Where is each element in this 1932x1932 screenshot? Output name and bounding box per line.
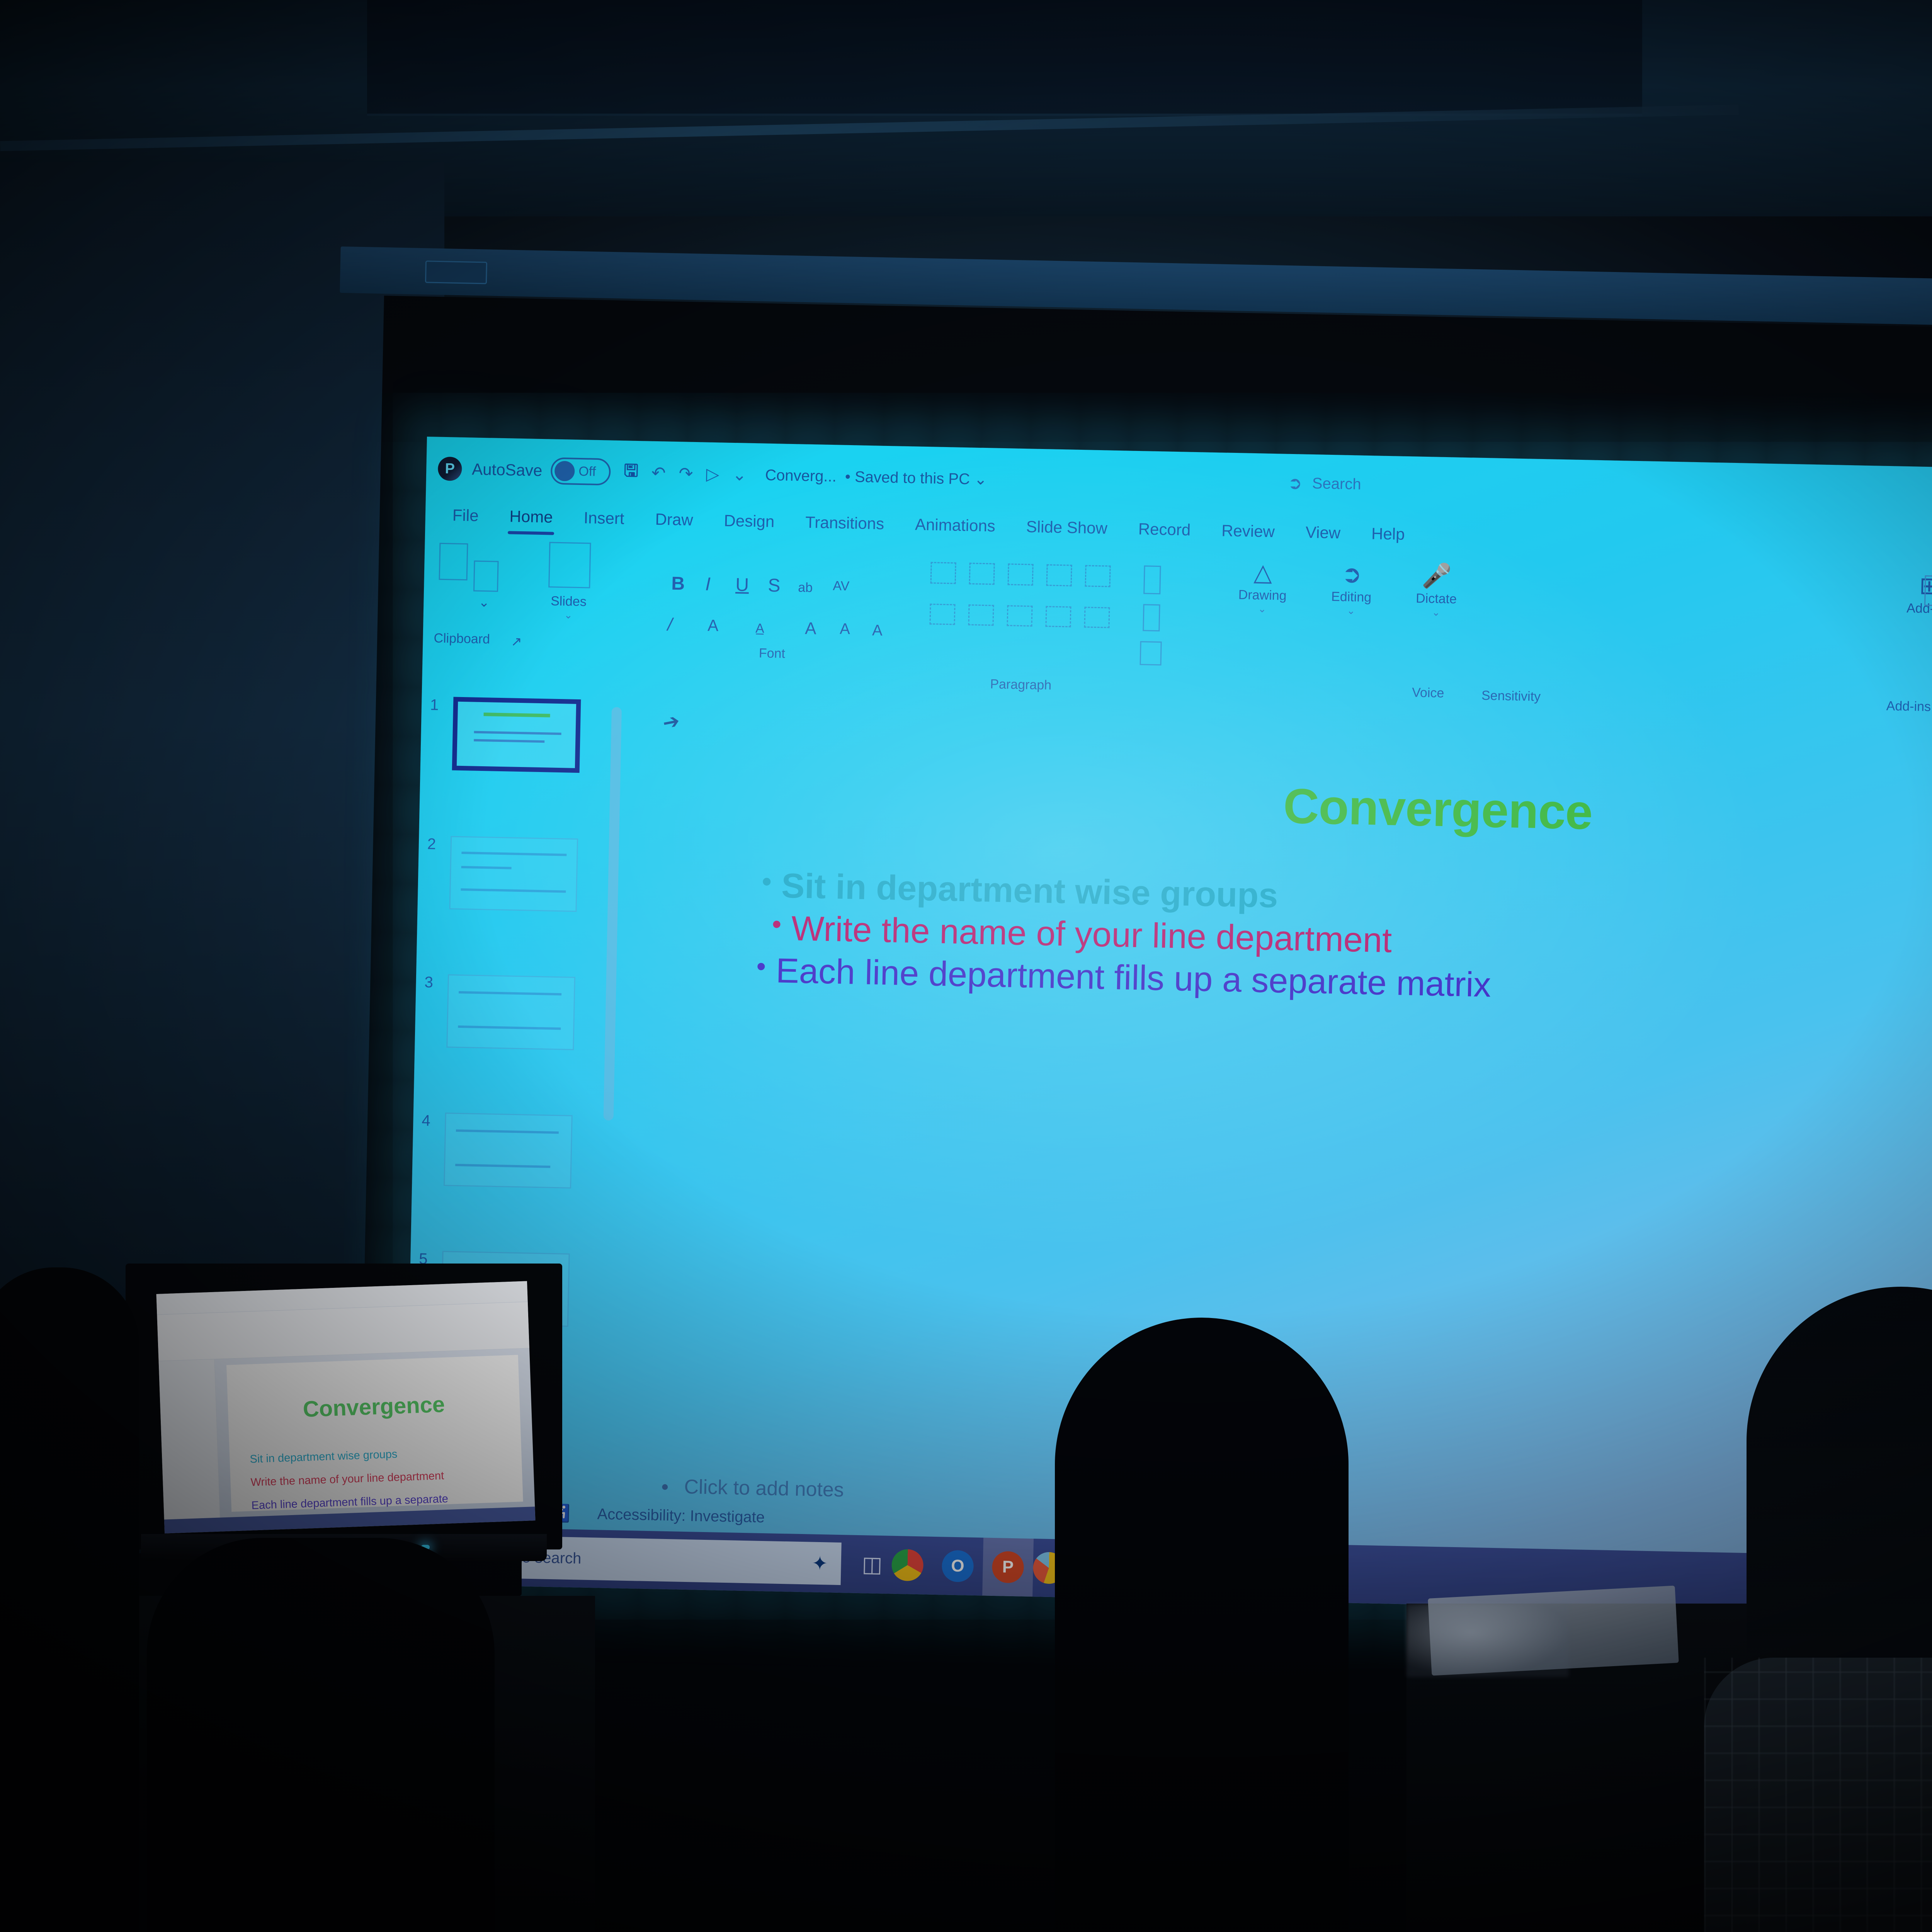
font-color-icon[interactable]: A̲ [755,621,764,636]
decrease-indent-icon[interactable] [1008,563,1034,585]
text-direction-icon[interactable] [1143,565,1161,594]
tab-design[interactable]: Design [708,509,790,534]
italic-button[interactable]: I [705,574,711,595]
laptop: Convergence Sit in department wise group… [126,1264,562,1549]
audience-silhouette [0,1267,139,1932]
autosave-toggle[interactable]: Off [551,457,611,485]
chevron-down-icon: ⌄ [1312,604,1390,617]
toggle-knob [554,461,575,481]
group-label-addins: Add-ins [1886,699,1931,714]
laptop-slide: Convergence Sit in department wise group… [226,1355,523,1512]
tab-draw[interactable]: Draw [639,507,709,532]
audience-silhouette [1055,1318,1349,1932]
ceiling-recess [367,0,1642,116]
clipboard-dialog-launcher[interactable]: ↗ [511,634,522,650]
podium-plastic-bag [1406,1604,1569,1677]
laptop-bullet-2: Write the name of your line department [250,1469,444,1489]
thumb-title-line [484,713,550,717]
thumbnail-scrollbar[interactable] [604,707,622,1121]
group-label-paragraph: Paragraph [990,677,1052,693]
tab-insert[interactable]: Insert [568,506,640,531]
bullet-marker: • [772,907,782,941]
autosave-state: Off [578,464,596,479]
find-magnifier-icon: ➲ [1313,562,1391,587]
roller-brand-label [425,260,487,284]
justify-icon[interactable] [1045,606,1071,627]
chevron-down-icon: ⌄ [539,609,598,622]
tab-transitions[interactable]: Transitions [790,510,900,536]
tab-animations[interactable]: Animations [900,513,1011,538]
clear-formatting-icon[interactable]: A [707,616,719,635]
editing-button[interactable]: ➲ Editing ⌄ [1312,562,1391,617]
thumbnail-number: 3 [424,974,448,992]
undo-icon[interactable]: ↶ [651,463,666,483]
increase-indent-icon[interactable] [1046,564,1072,586]
strikethrough-button[interactable]: S [768,575,781,597]
thumb-body-line [461,852,566,856]
thumb-body-line [461,888,566,893]
customize-qat-icon[interactable]: ⌄ [732,464,747,485]
thumb-body-line [455,1164,550,1168]
audience-shirt [1704,1658,1932,1932]
search-box[interactable]: ➲ Search [1288,473,1362,495]
tab-review[interactable]: Review [1206,519,1291,544]
tab-help[interactable]: Help [1356,522,1421,546]
document-title[interactable]: Converg... • Saved to this PC ⌄ [765,466,987,489]
task-view-icon[interactable]: ◫ [862,1551,883,1577]
slide-thumbnail-3[interactable] [446,974,575,1050]
laptop-bullet-3: Each line department fills up a separate [251,1493,448,1512]
columns-icon[interactable] [1084,607,1110,628]
text-shadow-icon[interactable]: / [667,614,673,635]
drawing-shapes-icon: △ [1220,560,1306,585]
quick-access-toolbar: 🖫 ↶ ↷ ▷ ⌄ [624,458,747,489]
audience-silhouette [147,1538,495,1932]
thumbnail-row[interactable]: 1 [429,696,581,773]
outlook-icon: O [942,1550,974,1582]
thumbnail-row[interactable]: 3 [423,974,575,1050]
thumb-body-line [459,991,561,995]
character-spacing-icon[interactable]: ab [798,580,813,595]
slides-button[interactable]: Slides ⌄ [539,590,598,622]
thumbnail-number: 4 [422,1112,445,1130]
autosave-label: AutoSave [472,460,543,480]
shirt-check-pattern [1704,1658,1932,1932]
align-left-icon[interactable] [930,604,956,625]
numbering-icon[interactable] [969,563,995,585]
laptop-slide-title: Convergence [228,1389,520,1425]
line-spacing-icon[interactable] [1085,565,1111,587]
convert-to-smartart-icon[interactable] [1140,641,1162,665]
notes-placeholder[interactable]: Click to add notes [684,1475,844,1502]
thumbnail-row[interactable]: 4 [420,1112,573,1189]
laptop-thumbnail-panel [159,1359,220,1520]
save-icon[interactable]: 🖫 [624,458,639,487]
thumbnail-row[interactable]: 2 [426,835,578,912]
thumb-body-line [456,1129,559,1134]
redo-icon[interactable]: ↷ [679,464,693,484]
fan-blade [1881,0,1932,27]
search-icon: ➲ [1288,473,1303,493]
drawing-button[interactable]: △ Drawing ⌄ [1219,560,1306,616]
ceiling-fan-icon [1882,0,1932,205]
tab-slide-show[interactable]: Slide Show [1010,515,1123,540]
clipboard-expand-chevron[interactable]: ⌄ [478,595,490,611]
slide-thumbnail-2[interactable] [449,836,578,912]
bold-button[interactable]: B [671,573,685,595]
slides-label: Slides [539,594,598,610]
slide-title[interactable]: Convergence [636,765,1932,854]
microphone-icon: 🎤 [1398,564,1476,589]
underline-button[interactable]: U [735,574,749,596]
powerpoint-logo-icon [438,457,462,481]
bullet-marker: • [756,949,766,983]
conference-room: AutoSave Off 🖫 ↶ ↷ ▷ ⌄ Converg... • Save… [0,0,1932,1932]
status-accessibility[interactable]: Accessibility: Investigate [597,1505,765,1526]
increase-font-size-icon[interactable]: A [805,619,816,639]
notes-bullet-icon: ● [661,1479,669,1494]
thumbnail-number: 1 [430,696,454,714]
laptop-bullet-1: Sit in department wise groups [250,1448,398,1466]
slide-thumbnail-1[interactable] [452,697,581,773]
chevron-down-icon: ⌄ [1397,605,1475,619]
tab-record[interactable]: Record [1122,517,1206,542]
group-label-voice: Voice [1412,685,1444,701]
change-case-icon[interactable]: AV [833,578,850,594]
editing-label: Editing [1313,589,1390,605]
align-center-icon[interactable] [968,604,994,626]
tab-view[interactable]: View [1290,520,1356,545]
bullets-icon[interactable] [930,562,956,584]
group-label-clipboard: Clipboard [434,631,490,647]
group-label-sensitivity: Sensitivity [1481,688,1541,704]
thumbnail-number: 2 [427,835,451,853]
thumb-body-line [474,739,545,743]
thumb-body-line [461,866,512,869]
powerpoint-icon: P [992,1551,1024,1583]
chevron-down-icon: ⌄ [1219,602,1305,616]
taskbar-app-outlook[interactable]: O [932,1537,983,1596]
bullet-marker: • [762,865,772,899]
paste-icon[interactable] [439,543,468,580]
drawing-label: Drawing [1220,587,1305,604]
thumb-body-line [458,1026,561,1030]
new-slide-icon[interactable] [548,542,591,588]
laptop-screen: Convergence Sit in department wise group… [156,1281,535,1533]
dictate-button[interactable]: 🎤 Dictate ⌄ [1397,564,1476,619]
search-placeholder: Search [1312,475,1361,493]
record-button[interactable]: Record [1924,575,1932,607]
chrome-icon [891,1549,924,1582]
thumb-body-line [474,731,561,735]
align-text-icon[interactable] [1143,604,1160,631]
slide-thumbnail-4[interactable] [444,1112,573,1189]
dictate-label: Dictate [1398,591,1475,607]
mouse-pointer-icon: ➔ [661,709,682,735]
copy-icon[interactable] [473,561,499,592]
taskbar-app-chrome[interactable] [882,1536,933,1595]
copilot-sparkle-icon[interactable]: ✦ [811,1552,828,1575]
taskbar-app-powerpoint[interactable]: P [982,1537,1034,1597]
decrease-font-size-icon[interactable]: A [840,621,850,638]
start-slideshow-icon[interactable]: ▷ [706,464,719,484]
tab-file[interactable]: File [437,503,494,528]
group-label-font: Font [759,646,786,661]
slide-body-placeholder[interactable]: • Sit in department wise groups • Write … [760,865,1932,1021]
tab-home[interactable]: Home [494,505,568,529]
align-right-icon[interactable] [1007,605,1032,626]
highlight-icon[interactable]: A [872,622,883,639]
record-group: Record 🛡 💬 [1924,574,1932,610]
